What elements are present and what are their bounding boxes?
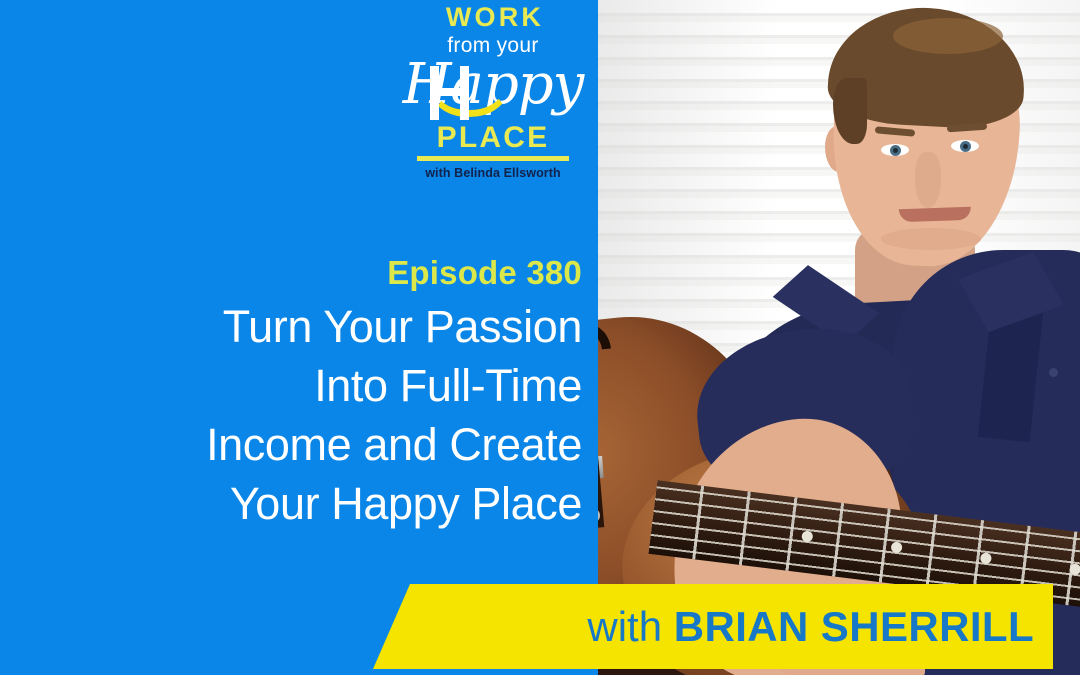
logo-h-crossbar <box>430 88 469 96</box>
person-eye-left <box>881 144 909 156</box>
episode-number-label: Episode 380 <box>40 252 582 294</box>
polo-button <box>1049 368 1058 377</box>
person-hair-highlight <box>893 18 1003 54</box>
person-chin-shadow <box>881 228 981 250</box>
episode-title-line: Turn Your Passion <box>40 297 582 356</box>
guest-name-text: with BRIAN SHERRILL <box>587 584 1034 669</box>
logo-word-happy-wrap: Happy <box>393 58 593 120</box>
guitar-fret-dot <box>1069 563 1080 575</box>
guest-name-banner: with BRIAN SHERRILL <box>373 584 1053 669</box>
episode-title-line: Your Happy Place <box>40 474 582 533</box>
photo-left-edge <box>593 0 598 675</box>
podcast-logo: WORK from your Happy PLACE with Belinda … <box>393 2 593 181</box>
logo-word-work: WORK <box>397 2 593 32</box>
person-nose <box>915 152 941 208</box>
episode-title-line: Into Full-Time <box>40 356 582 415</box>
person-eye-right <box>951 140 979 152</box>
logo-host-byline: with Belinda Ellsworth <box>393 165 593 181</box>
podcast-cover-image: WORK from your Happy PLACE with Belinda … <box>0 0 1080 675</box>
guest-photo <box>593 0 1080 675</box>
episode-title: Turn Your Passion Into Full-Time Income … <box>40 297 582 533</box>
logo-underline-rule <box>417 156 569 161</box>
episode-text-block: Episode 380 Turn Your Passion Into Full-… <box>40 252 582 533</box>
guest-prefix: with <box>587 603 673 650</box>
guest-name: BRIAN SHERRILL <box>674 603 1034 650</box>
logo-word-place: PLACE <box>393 122 593 154</box>
person-mouth <box>899 207 971 223</box>
episode-title-line: Income and Create <box>40 415 582 474</box>
